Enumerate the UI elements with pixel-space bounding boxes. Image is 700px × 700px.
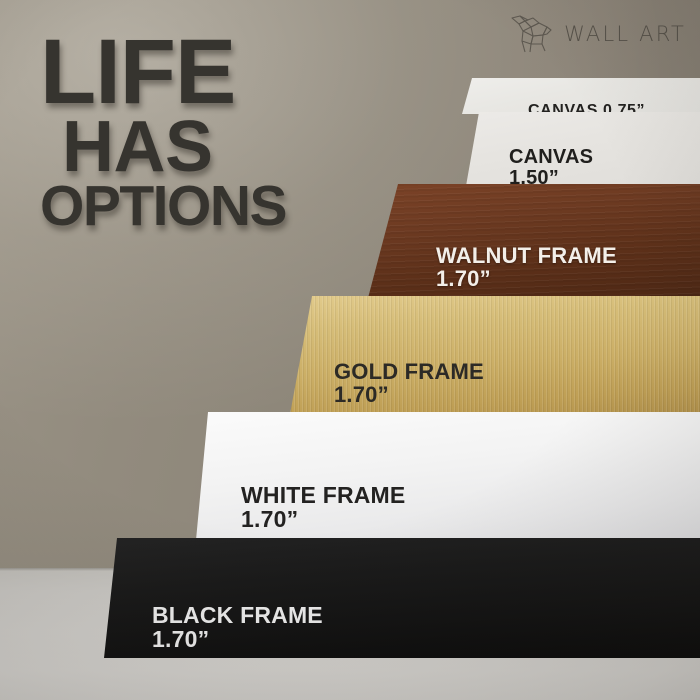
option-slab-black-frame[interactable]: BLACK FRAME 1.70” — [104, 538, 700, 658]
brand-name: WALL ART — [564, 22, 686, 46]
option-label-walnut-frame: WALNUT FRAME 1.70” — [436, 222, 617, 298]
option-depth: 1.70” — [152, 628, 323, 652]
option-depth: 1.70” — [241, 508, 405, 532]
option-label-gold-frame: GOLD FRAME 1.70” — [334, 338, 484, 414]
option-label-canvas-150: CANVAS 1.50” — [509, 126, 593, 186]
brand-logo: WALL ART — [509, 14, 686, 54]
option-slab-gold-frame[interactable]: GOLD FRAME 1.70” — [290, 296, 700, 414]
option-slab-canvas-075[interactable]: CANVAS 0.75” — [462, 78, 700, 114]
option-slab-white-frame[interactable]: WHITE FRAME 1.70” — [196, 412, 700, 540]
option-name: WHITE FRAME — [241, 482, 405, 508]
origami-goat-icon — [509, 14, 555, 54]
promo-image: LIFE HAS OPTIONS WALL ART CANVAS — [0, 0, 700, 700]
option-slab-canvas-150[interactable]: CANVAS 1.50” — [466, 112, 700, 186]
option-depth: 1.70” — [436, 268, 617, 291]
option-depth: 1.70” — [334, 384, 484, 407]
option-name: BLACK FRAME — [152, 602, 323, 628]
option-label-black-frame: BLACK FRAME 1.70” — [152, 580, 323, 658]
option-slab-walnut-frame[interactable]: WALNUT FRAME 1.70” — [368, 184, 700, 298]
headline: LIFE HAS OPTIONS — [40, 34, 380, 231]
option-depth: 1.50” — [509, 168, 593, 186]
headline-line-3: OPTIONS — [40, 183, 380, 231]
headline-line-2: HAS — [62, 117, 380, 177]
option-name: WALNUT FRAME — [436, 243, 617, 268]
option-name: CANVAS — [509, 146, 593, 168]
option-label-canvas-075: CANVAS 0.75” — [528, 86, 645, 114]
option-name: GOLD FRAME — [334, 359, 484, 384]
headline-line-1: LIFE — [40, 34, 380, 111]
option-label-white-frame: WHITE FRAME 1.70” — [241, 460, 405, 540]
